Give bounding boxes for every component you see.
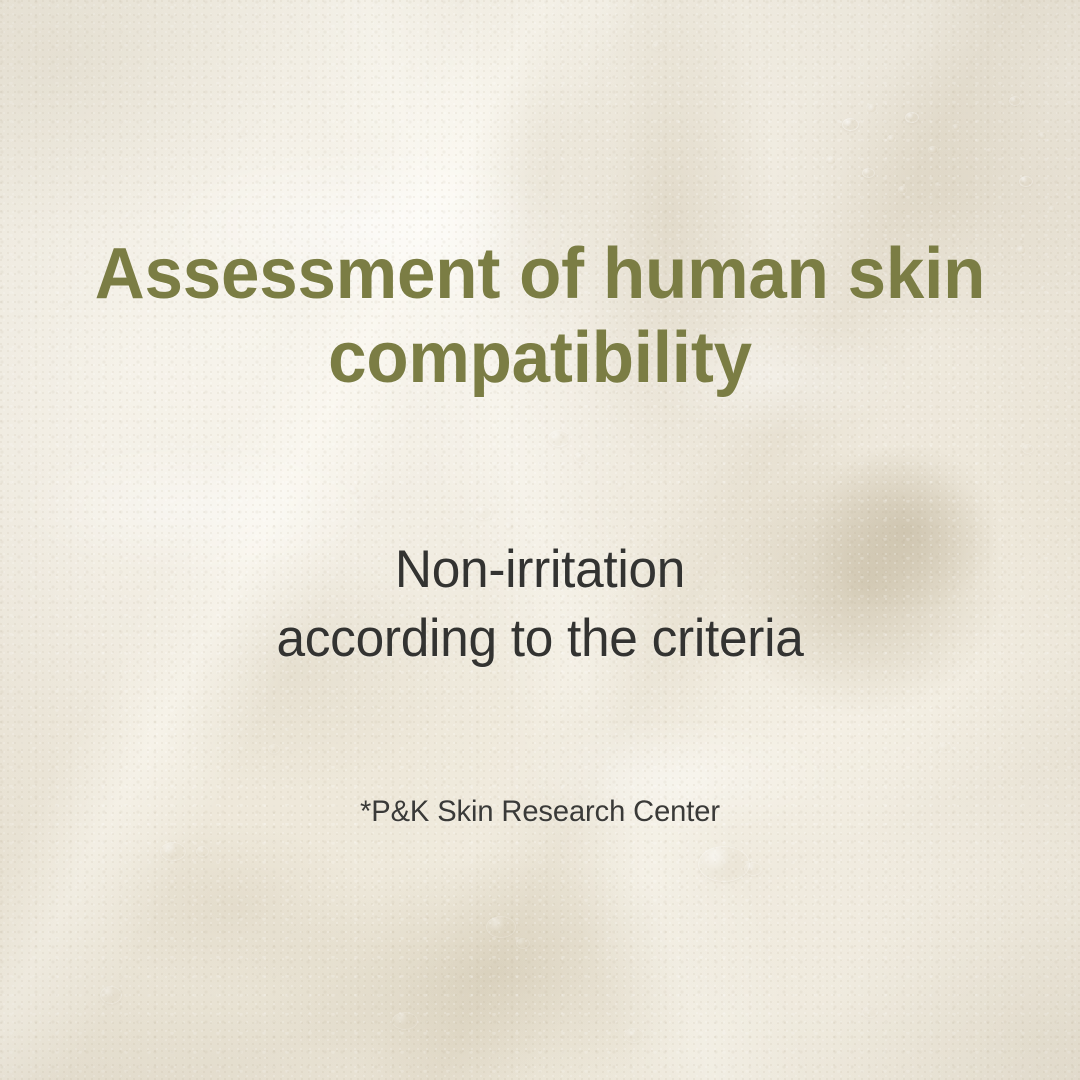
poster-canvas: Assessment of human skin compatibility N… (0, 0, 1080, 1080)
source-footnote: *P&K Skin Research Center (16, 792, 1064, 831)
claim-subtitle: Non-irritation according to the criteria (16, 536, 1064, 674)
claim-text-block: Assessment of human skin compatibility N… (0, 0, 1080, 1080)
page-title: Assessment of human skin compatibility (22, 232, 1059, 400)
